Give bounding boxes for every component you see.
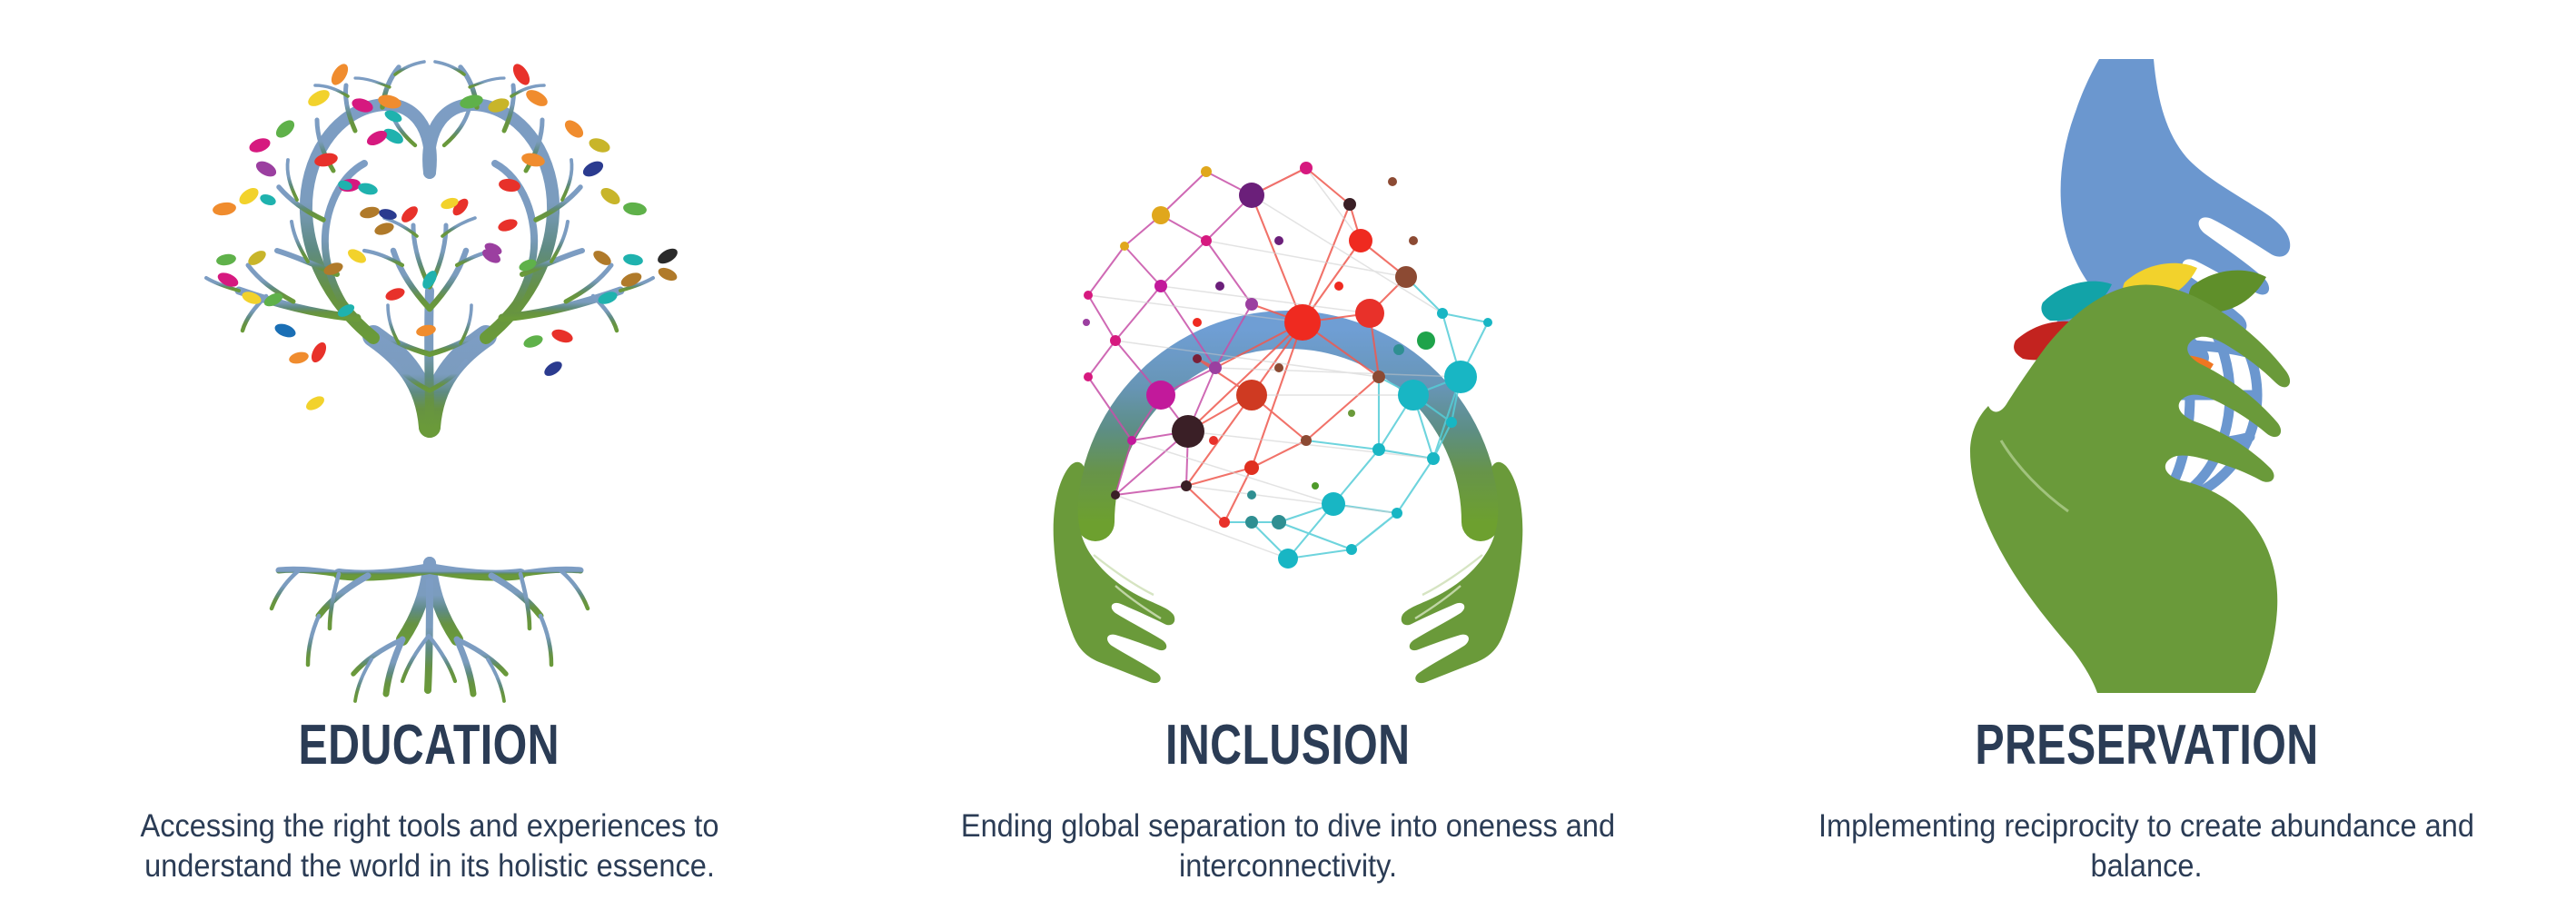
value-description: Implementing reciprocity to create abund…	[1818, 806, 2476, 886]
value-card-education: EDUCATION Accessing the right tools and …	[0, 0, 858, 910]
value-title: EDUCATION	[299, 717, 560, 774]
heart-tree-with-roots-icon	[0, 0, 858, 717]
value-card-preservation: PRESERVATION Implementing reciprocity to…	[1718, 0, 2576, 910]
values-row: EDUCATION Accessing the right tools and …	[0, 0, 2576, 910]
value-description: Ending global separation to dive into on…	[958, 806, 1617, 886]
value-title: INCLUSION	[1165, 717, 1410, 774]
value-card-inclusion: INCLUSION Ending global separation to di…	[858, 0, 1717, 910]
value-description: Accessing the right tools and experience…	[100, 806, 758, 886]
two-hands-cradling-leafy-globe-icon	[1718, 0, 2576, 717]
hands-holding-network-globe-icon	[858, 0, 1717, 717]
value-title: PRESERVATION	[1975, 717, 2318, 774]
